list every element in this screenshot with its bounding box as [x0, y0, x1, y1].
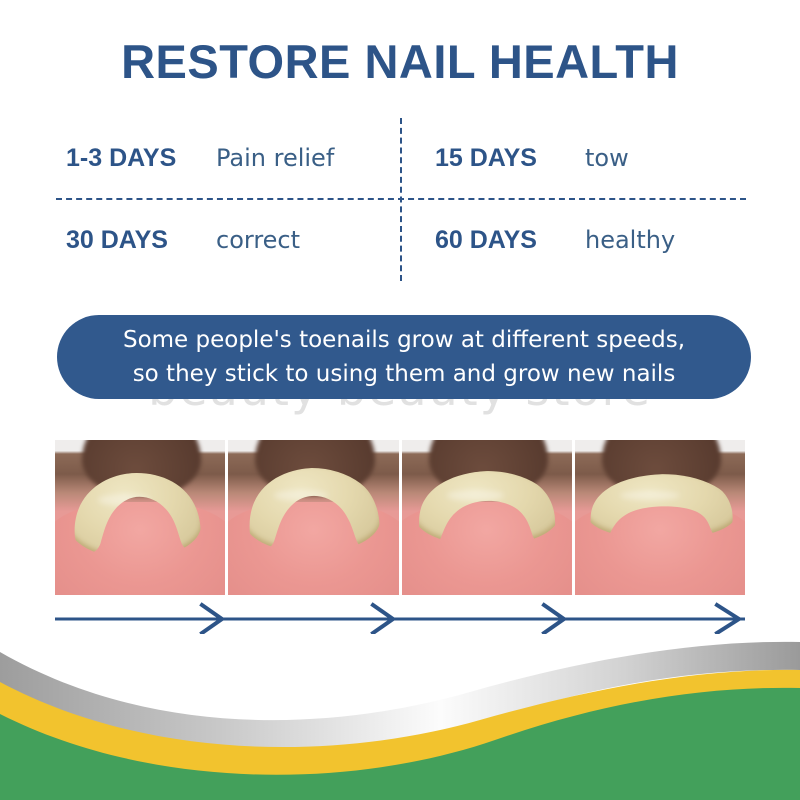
- benefit-label: Pain relief: [216, 144, 334, 172]
- duration-label: 1-3 DAYS: [66, 144, 216, 173]
- page-title: RESTORE NAIL HEALTH: [0, 34, 800, 89]
- duration-label: 15 DAYS: [435, 144, 585, 173]
- schedule-cell-1-3-days: 1-3 DAYS Pain relief: [56, 118, 401, 198]
- schedule-cell-60-days: 60 DAYS healthy: [401, 200, 746, 280]
- benefit-label: correct: [216, 226, 300, 254]
- photo-panel-stage-2: [228, 440, 398, 595]
- schedule-cell-30-days: 30 DAYS correct: [56, 200, 401, 280]
- promo-infographic: RESTORE NAIL HEALTH 1-3 DAYS Pain relief…: [0, 0, 800, 800]
- footer-wave-decoration: [0, 620, 800, 800]
- nail-highlight: [620, 491, 680, 500]
- photo-panel-stage-4: [575, 440, 745, 595]
- banner-line-1: Some people's toenails grow at different…: [123, 323, 685, 357]
- benefit-label: tow: [585, 144, 629, 172]
- banner-line-2: so they stick to using them and grow new…: [133, 357, 676, 391]
- benefit-label: healthy: [585, 226, 675, 254]
- vertical-divider: [400, 118, 402, 281]
- info-banner: Some people's toenails grow at different…: [57, 315, 751, 399]
- photo-panel-stage-3: [402, 440, 572, 595]
- schedule-cell-15-days: 15 DAYS tow: [401, 118, 746, 198]
- duration-label: 30 DAYS: [66, 226, 216, 255]
- nail-highlight: [447, 490, 504, 500]
- before-after-photo-strip: [55, 440, 745, 595]
- duration-label: 60 DAYS: [435, 226, 585, 255]
- photo-panel-stage-1: [55, 440, 225, 595]
